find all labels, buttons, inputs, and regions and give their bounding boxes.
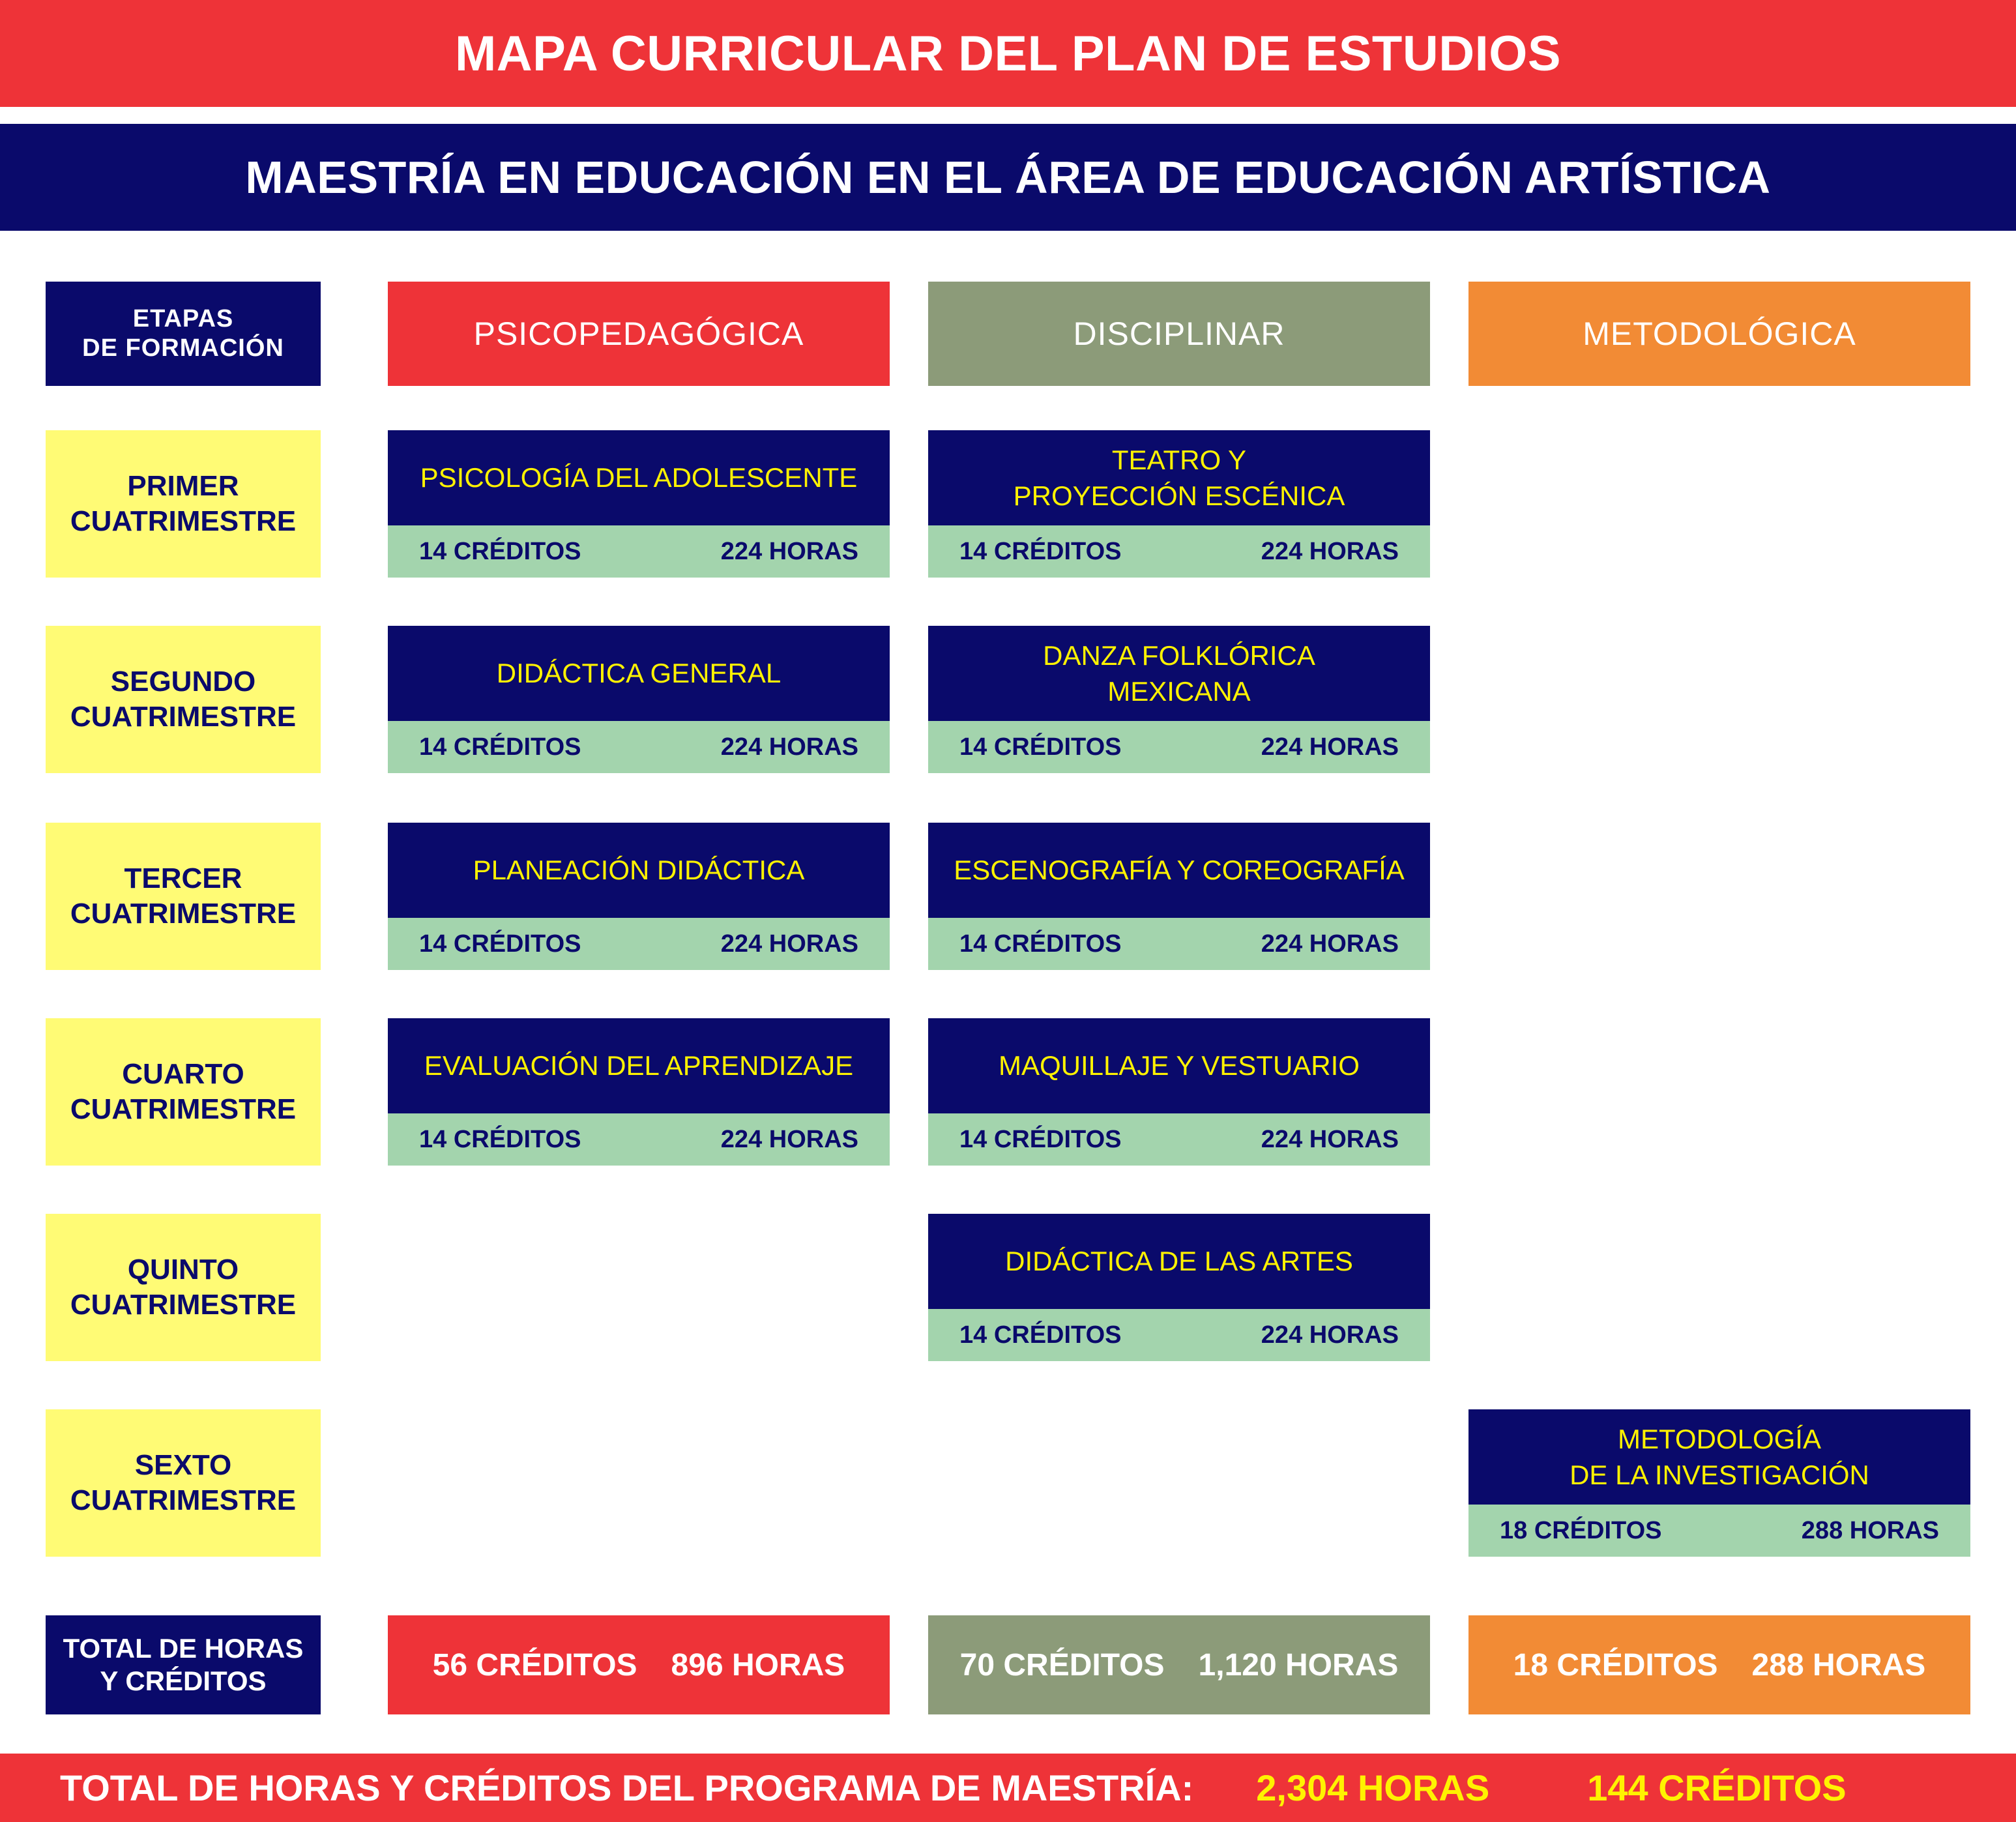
course-hours: 224 HORAS bbox=[1261, 930, 1399, 958]
semester-label-line2: CUATRIMESTRE bbox=[70, 1287, 296, 1323]
course-meta: 14 CRÉDITOS 224 HORAS bbox=[388, 918, 890, 970]
course-hours: 224 HORAS bbox=[1261, 538, 1399, 566]
course-title: MAQUILLAJE Y VESTUARIO bbox=[928, 1018, 1430, 1113]
footer-credits: 144 CRÉDITOS bbox=[1587, 1767, 1846, 1809]
course-title: DIDÁCTICA GENERAL bbox=[388, 626, 890, 721]
course-meta: 14 CRÉDITOS 224 HORAS bbox=[928, 1309, 1430, 1361]
course-hours: 224 HORAS bbox=[1261, 1126, 1399, 1154]
course-card-psicologia-del-adolescente[interactable]: PSICOLOGÍA DEL ADOLESCENTE 14 CRÉDITOS 2… bbox=[388, 430, 890, 578]
totals-hours: 1,120 HORAS bbox=[1199, 1647, 1399, 1683]
course-title-line2: MEXICANA bbox=[1043, 673, 1315, 709]
course-hours: 224 HORAS bbox=[721, 930, 858, 958]
course-card-danza-folklorica-mexicana[interactable]: DANZA FOLKLÓRICA MEXICANA 14 CRÉDITOS 22… bbox=[928, 626, 1430, 773]
semester-label-line2: CUATRIMESTRE bbox=[70, 504, 296, 539]
course-title-line2: PROYECCIÓN ESCÉNICA bbox=[1014, 478, 1345, 514]
semester-label-line2: CUATRIMESTRE bbox=[70, 1092, 296, 1127]
totals-psicopedagogica: 56 CRÉDITOS 896 HORAS bbox=[388, 1615, 890, 1714]
course-card-didactica-general[interactable]: DIDÁCTICA GENERAL 14 CRÉDITOS 224 HORAS bbox=[388, 626, 890, 773]
program-totals-footer: TOTAL DE HORAS Y CRÉDITOS DEL PROGRAMA D… bbox=[0, 1754, 2016, 1822]
course-credits: 14 CRÉDITOS bbox=[959, 1321, 1121, 1349]
totals-label-line1: TOTAL DE HORAS bbox=[63, 1632, 304, 1665]
course-title: EVALUACIÓN DEL APRENDIZAJE bbox=[388, 1018, 890, 1113]
semester-box-3: TERCER CUATRIMESTRE bbox=[46, 823, 321, 970]
column-header-psicopedagogica: PSICOPEDAGÓGICA bbox=[388, 282, 890, 386]
program-title: MAESTRÍA EN EDUCACIÓN EN EL ÁREA DE EDUC… bbox=[245, 151, 1770, 203]
semester-box-6: SEXTO CUATRIMESTRE bbox=[46, 1409, 321, 1557]
course-meta: 14 CRÉDITOS 224 HORAS bbox=[388, 525, 890, 578]
course-hours: 288 HORAS bbox=[1802, 1517, 1939, 1545]
semester-label-line1: QUINTO bbox=[70, 1252, 296, 1287]
course-card-maquillaje-y-vestuario[interactable]: MAQUILLAJE Y VESTUARIO 14 CRÉDITOS 224 H… bbox=[928, 1018, 1430, 1166]
course-credits: 14 CRÉDITOS bbox=[419, 1126, 581, 1154]
course-title: TEATRO Y PROYECCIÓN ESCÉNICA bbox=[928, 430, 1430, 525]
course-credits: 14 CRÉDITOS bbox=[959, 733, 1121, 761]
totals-disciplinar: 70 CRÉDITOS 1,120 HORAS bbox=[928, 1615, 1430, 1714]
totals-credits: 56 CRÉDITOS bbox=[433, 1647, 637, 1683]
course-credits: 14 CRÉDITOS bbox=[959, 930, 1121, 958]
semester-box-2: SEGUNDO CUATRIMESTRE bbox=[46, 626, 321, 773]
semester-label-line2: CUATRIMESTRE bbox=[70, 699, 296, 735]
course-title: PLANEACIÓN DIDÁCTICA bbox=[388, 823, 890, 918]
course-title: DIDÁCTICA DE LAS ARTES bbox=[928, 1214, 1430, 1309]
column-header-stages: ETAPAS DE FORMACIÓN bbox=[46, 282, 321, 386]
course-hours: 224 HORAS bbox=[1261, 1321, 1399, 1349]
course-meta: 14 CRÉDITOS 224 HORAS bbox=[928, 525, 1430, 578]
semester-box-4: CUARTO CUATRIMESTRE bbox=[46, 1018, 321, 1166]
totals-metodologica: 18 CRÉDITOS 288 HORAS bbox=[1468, 1615, 1970, 1714]
stages-label-line2: DE FORMACIÓN bbox=[82, 334, 284, 363]
course-card-didactica-de-las-artes[interactable]: DIDÁCTICA DE LAS ARTES 14 CRÉDITOS 224 H… bbox=[928, 1214, 1430, 1361]
course-meta: 14 CRÉDITOS 224 HORAS bbox=[928, 918, 1430, 970]
course-credits: 14 CRÉDITOS bbox=[419, 930, 581, 958]
course-title-line1: TEATRO Y bbox=[1014, 442, 1345, 478]
course-card-escenografia-y-coreografia[interactable]: ESCENOGRAFÍA Y COREOGRAFÍA 14 CRÉDITOS 2… bbox=[928, 823, 1430, 970]
totals-credits: 18 CRÉDITOS bbox=[1513, 1647, 1718, 1683]
column-header-label: METODOLÓGICA bbox=[1583, 315, 1856, 353]
semester-label-line1: CUARTO bbox=[70, 1057, 296, 1092]
course-card-metodologia-de-la-investigacion[interactable]: METODOLOGÍA DE LA INVESTIGACIÓN 18 CRÉDI… bbox=[1468, 1409, 1970, 1557]
totals-credits: 70 CRÉDITOS bbox=[960, 1647, 1165, 1683]
totals-hours: 288 HORAS bbox=[1752, 1647, 1926, 1683]
semester-box-1: PRIMER CUATRIMESTRE bbox=[46, 430, 321, 578]
semester-label-line1: PRIMER bbox=[70, 469, 296, 504]
course-title-line1: METODOLOGÍA bbox=[1570, 1421, 1869, 1457]
course-credits: 18 CRÉDITOS bbox=[1500, 1517, 1661, 1545]
course-meta: 14 CRÉDITOS 224 HORAS bbox=[928, 721, 1430, 773]
page-title: MAPA CURRICULAR DEL PLAN DE ESTUDIOS bbox=[455, 25, 1561, 82]
totals-row-label: TOTAL DE HORAS Y CRÉDITOS bbox=[46, 1615, 321, 1714]
course-credits: 14 CRÉDITOS bbox=[419, 538, 581, 566]
program-title-banner: MAESTRÍA EN EDUCACIÓN EN EL ÁREA DE EDUC… bbox=[0, 124, 2016, 231]
column-header-label: PSICOPEDAGÓGICA bbox=[474, 315, 804, 353]
footer-hours: 2,304 HORAS bbox=[1256, 1767, 1489, 1809]
course-title: PSICOLOGÍA DEL ADOLESCENTE bbox=[388, 430, 890, 525]
course-card-teatro-y-proyeccion-escenica[interactable]: TEATRO Y PROYECCIÓN ESCÉNICA 14 CRÉDITOS… bbox=[928, 430, 1430, 578]
course-title-line1: DANZA FOLKLÓRICA bbox=[1043, 638, 1315, 673]
totals-hours: 896 HORAS bbox=[671, 1647, 845, 1683]
course-card-evaluacion-del-aprendizaje[interactable]: EVALUACIÓN DEL APRENDIZAJE 14 CRÉDITOS 2… bbox=[388, 1018, 890, 1166]
semester-label-line1: TERCER bbox=[70, 861, 296, 896]
course-title-line2: DE LA INVESTIGACIÓN bbox=[1570, 1457, 1869, 1493]
course-credits: 14 CRÉDITOS bbox=[959, 1126, 1121, 1154]
course-credits: 14 CRÉDITOS bbox=[959, 538, 1121, 566]
course-hours: 224 HORAS bbox=[721, 538, 858, 566]
stages-label-line1: ETAPAS bbox=[82, 304, 284, 334]
course-card-planeacion-didactica[interactable]: PLANEACIÓN DIDÁCTICA 14 CRÉDITOS 224 HOR… bbox=[388, 823, 890, 970]
semester-box-5: QUINTO CUATRIMESTRE bbox=[46, 1214, 321, 1361]
column-header-disciplinar: DISCIPLINAR bbox=[928, 282, 1430, 386]
course-meta: 14 CRÉDITOS 224 HORAS bbox=[388, 721, 890, 773]
course-credits: 14 CRÉDITOS bbox=[419, 733, 581, 761]
course-hours: 224 HORAS bbox=[721, 733, 858, 761]
column-header-label: DISCIPLINAR bbox=[1074, 315, 1285, 353]
course-meta: 14 CRÉDITOS 224 HORAS bbox=[388, 1113, 890, 1166]
semester-label-line2: CUATRIMESTRE bbox=[70, 896, 296, 932]
course-hours: 224 HORAS bbox=[1261, 733, 1399, 761]
course-meta: 14 CRÉDITOS 224 HORAS bbox=[928, 1113, 1430, 1166]
course-title: DANZA FOLKLÓRICA MEXICANA bbox=[928, 626, 1430, 721]
semester-label-line1: SEXTO bbox=[70, 1448, 296, 1483]
course-hours: 224 HORAS bbox=[721, 1126, 858, 1154]
footer-label: TOTAL DE HORAS Y CRÉDITOS DEL PROGRAMA D… bbox=[60, 1767, 1193, 1809]
course-meta: 18 CRÉDITOS 288 HORAS bbox=[1468, 1505, 1970, 1557]
course-title: ESCENOGRAFÍA Y COREOGRAFÍA bbox=[928, 823, 1430, 918]
column-header-metodologica: METODOLÓGICA bbox=[1468, 282, 1970, 386]
page-title-banner: MAPA CURRICULAR DEL PLAN DE ESTUDIOS bbox=[0, 0, 2016, 107]
course-title: METODOLOGÍA DE LA INVESTIGACIÓN bbox=[1468, 1409, 1970, 1505]
semester-label-line2: CUATRIMESTRE bbox=[70, 1483, 296, 1518]
totals-label-line2: Y CRÉDITOS bbox=[63, 1665, 304, 1697]
semester-label-line1: SEGUNDO bbox=[70, 664, 296, 699]
